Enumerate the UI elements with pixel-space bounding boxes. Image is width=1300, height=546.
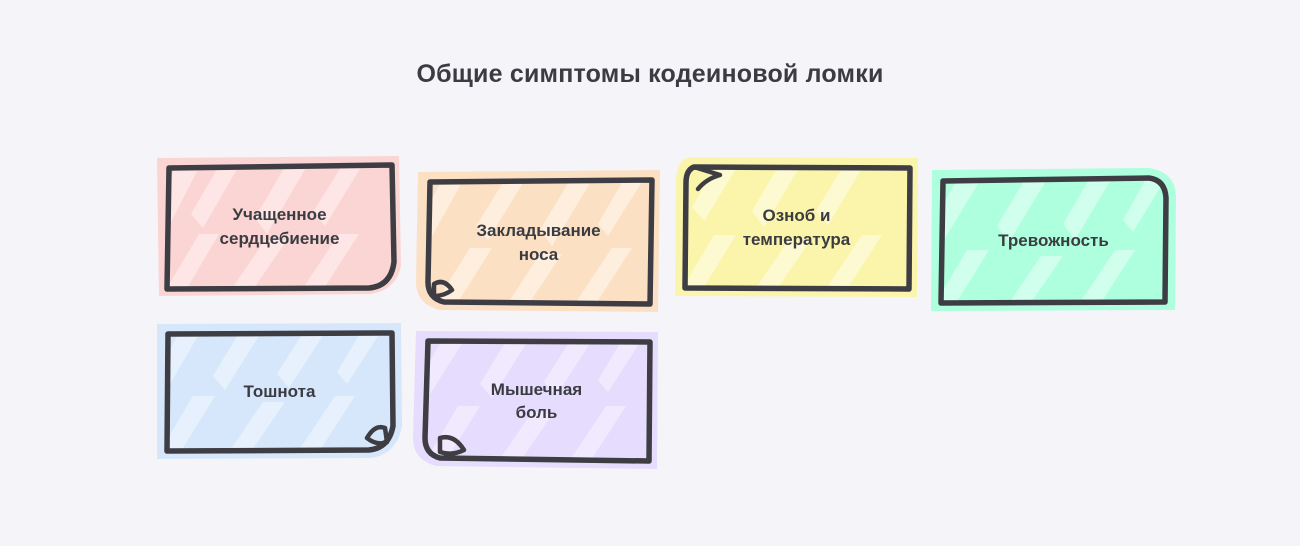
card-shape [422,178,655,307]
card-nausea[interactable]: Тошнота [163,330,396,453]
card-shape [937,176,1170,305]
card-chills-fever[interactable]: Озноб и температура [680,163,913,292]
card-rapid-heartbeat[interactable]: Учащенное сердцебиение [163,162,396,291]
card-shape [163,162,396,291]
page-title: Общие симптомы кодеиновой ломки [0,60,1300,89]
card-shape [680,163,913,292]
card-fill [157,320,402,466]
card-nasal-congestion[interactable]: Закладывание носа [422,178,655,307]
diagram-canvas: Общие симптомы кодеиновой ломки Уч [0,0,1300,546]
card-shape [420,338,653,464]
card-fill [931,166,1176,320]
card-shape [163,330,396,453]
card-fill [157,152,401,304]
card-anxiety[interactable]: Тревожность [937,176,1170,305]
card-fill [416,168,660,320]
card-muscle-pain[interactable]: Мышечная боль [420,338,653,464]
